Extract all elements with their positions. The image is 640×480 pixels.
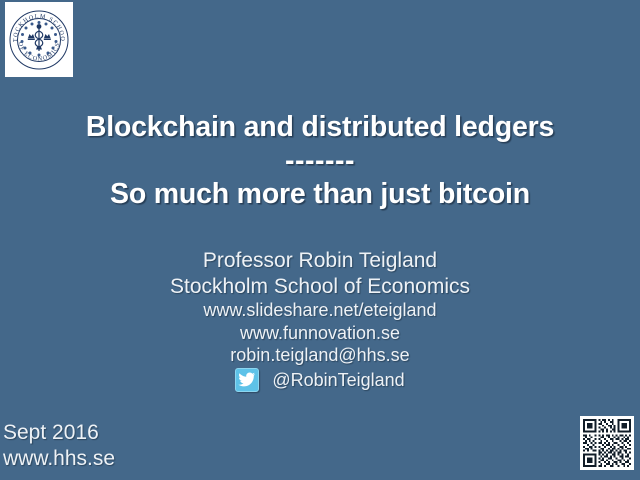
twitter-row[interactable]: @RobinTeigland xyxy=(0,368,640,392)
page-title-line-2: So much more than just bitcoin xyxy=(0,176,640,213)
stockholm-school-of-economics-logo-icon: · STOCKHOLM SCHOOL · OF ECONOMICS xyxy=(8,9,70,71)
logo-container: · STOCKHOLM SCHOOL · OF ECONOMICS xyxy=(5,2,73,77)
slideshare-link[interactable]: www.slideshare.net/eteigland xyxy=(0,299,640,322)
presentation-slide: · STOCKHOLM SCHOOL · OF ECONOMICS xyxy=(0,0,640,480)
twitter-icon[interactable] xyxy=(235,368,259,392)
title-separator: ------- xyxy=(0,146,640,176)
footer-url[interactable]: www.hhs.se xyxy=(3,446,115,472)
qr-code[interactable] xyxy=(580,416,634,470)
presenter-name: Professor Robin Teigland xyxy=(0,248,640,274)
website-link[interactable]: www.funnovation.se xyxy=(0,322,640,345)
presenter-affiliation: Stockholm School of Economics xyxy=(0,274,640,300)
title-block: Blockchain and distributed ledgers -----… xyxy=(0,109,640,213)
footer-date: Sept 2016 xyxy=(3,420,115,446)
footer-block: Sept 2016 www.hhs.se xyxy=(3,420,115,472)
page-title-line-1: Blockchain and distributed ledgers xyxy=(0,109,640,146)
email-link[interactable]: robin.teigland@hhs.se xyxy=(0,344,640,367)
twitter-handle[interactable]: @RobinTeigland xyxy=(272,368,404,392)
presenter-info-block: Professor Robin Teigland Stockholm Schoo… xyxy=(0,248,640,392)
